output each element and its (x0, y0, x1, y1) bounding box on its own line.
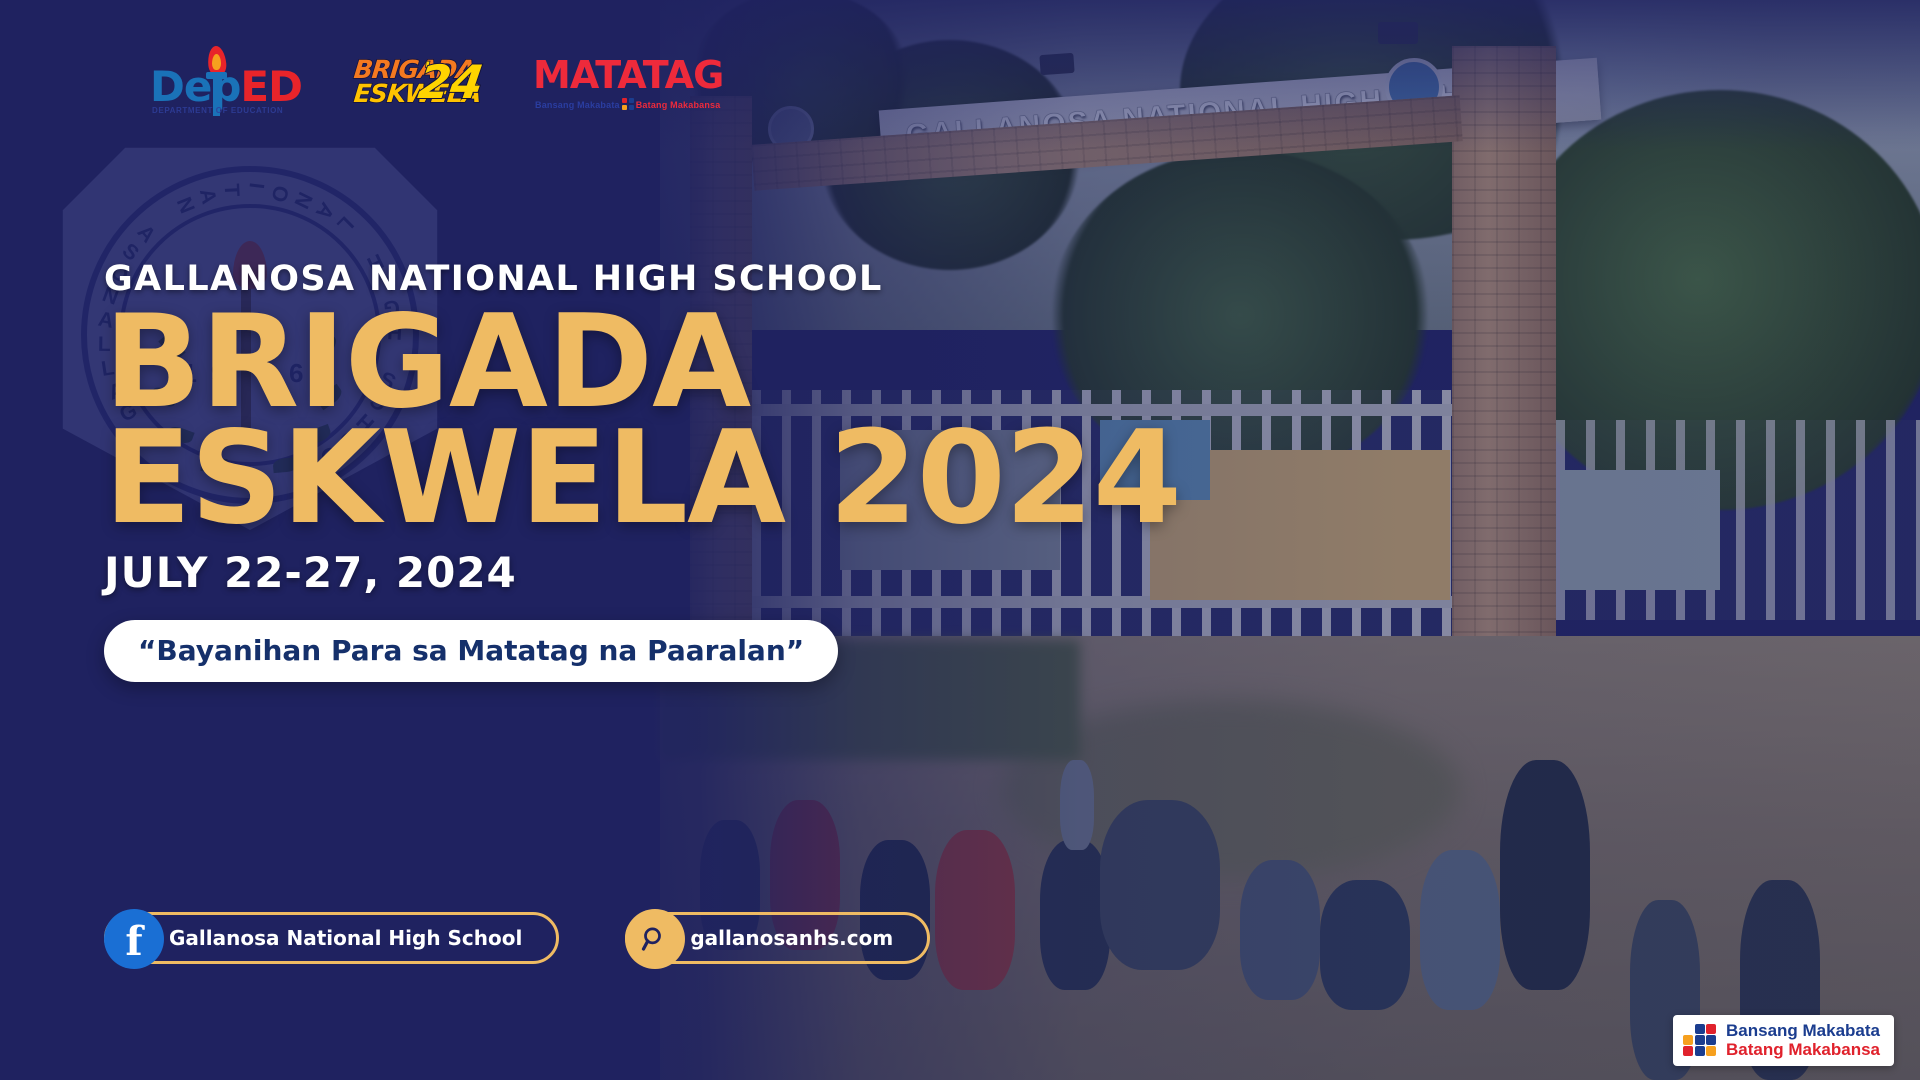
seal-arc-char: A (194, 187, 221, 208)
deped-word-ed: ED (240, 62, 302, 111)
facebook-badge[interactable]: f Gallanosa National High School (104, 912, 559, 964)
event-title-line2: ESKWELA 2024 (104, 419, 1181, 539)
seal-arc-char: T (219, 183, 244, 198)
matatag-tagline-right: Batang Makabansa (636, 100, 721, 110)
seal-arc-char: L (331, 211, 358, 238)
matatag-wordmark: MATATAG (533, 56, 723, 94)
pinwheel-icon (1683, 1024, 1717, 1058)
website-label: gallanosanhs.com (690, 926, 893, 950)
deped-wordmark: DepED (150, 66, 302, 108)
deped-logo: DepED DEPARTMENT OF EDUCATION (150, 48, 300, 120)
matatag-tagline: Bansang MakabataBatang Makabansa (535, 98, 720, 110)
facebook-label: Gallanosa National High School (169, 926, 522, 950)
bansang-makabata-text: Bansang Makabata Batang Makabansa (1726, 1022, 1880, 1059)
facebook-glyph: f (125, 922, 142, 962)
partner-logo-row: DepED DEPARTMENT OF EDUCATION BRIGADA ES… (150, 48, 708, 120)
bansang-makabata-line2: Batang Makabansa (1726, 1041, 1880, 1059)
seal-arc-char: I (243, 181, 268, 191)
bansang-makabata-line1: Bansang Makabata (1726, 1022, 1880, 1040)
deped-word-dep: Dep (150, 62, 240, 111)
tagline-pill: “Bayanihan Para sa Matatag na Paaralan” (104, 620, 838, 682)
pinwheel-icon (622, 98, 634, 110)
event-date: JULY 22-27, 2024 (104, 552, 1181, 594)
brigada-eskwela-logo: BRIGADA ESKWELA ' 24 (354, 53, 479, 115)
headline-block: GALLANOSA NATIONAL HIGH SCHOOL BRIGADA E… (104, 262, 1181, 682)
website-badge[interactable]: gallanosanhs.com (625, 912, 930, 964)
matatag-logo: MATATAG Bansang MakabataBatang Makabansa (533, 54, 708, 114)
facebook-icon[interactable]: f (104, 909, 164, 969)
brigada-year: 24 (416, 59, 486, 105)
bansang-makabata-badge: Bansang Makabata Batang Makabansa (1673, 1015, 1894, 1066)
deped-subtitle: DEPARTMENT OF EDUCATION (152, 106, 283, 115)
search-icon[interactable] (625, 909, 685, 969)
matatag-tagline-left: Bansang Makabata (535, 100, 620, 110)
contact-badges: f Gallanosa National High School gallano… (104, 912, 930, 964)
tagline-text: “Bayanihan Para sa Matatag na Paaralan” (138, 634, 804, 667)
